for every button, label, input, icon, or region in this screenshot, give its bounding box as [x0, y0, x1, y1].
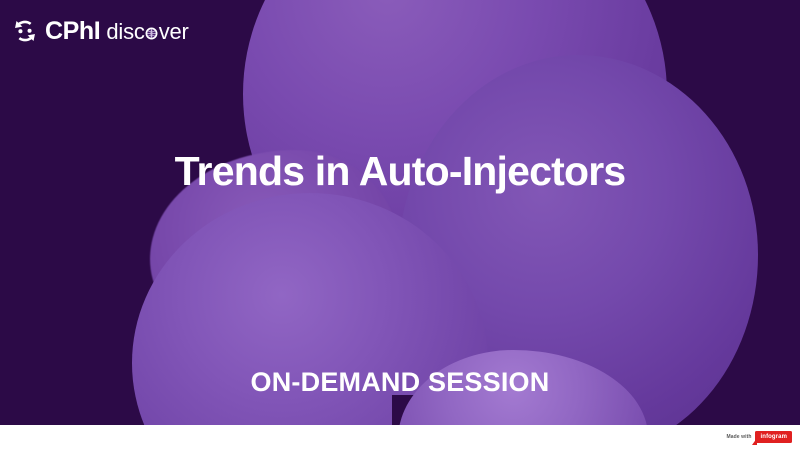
slide-root: CPhI disc ver [0, 0, 800, 450]
slide-title: Trends in Auto-Injectors [0, 149, 800, 194]
logo-secondary-text: disc ver [106, 21, 188, 43]
footer-bar: Made with infogram [0, 425, 800, 450]
infogram-tag-icon[interactable]: infogram [755, 431, 792, 443]
cphi-circular-arrows-icon [12, 18, 38, 44]
decorative-notch [392, 395, 462, 425]
logo-primary-text: CPhI [45, 19, 100, 44]
globe-pill-icon [145, 21, 159, 43]
infogram-watermark[interactable]: Made with infogram [726, 430, 792, 444]
slide-subtitle: ON-DEMAND SESSION [0, 368, 800, 398]
cphi-discover-logo[interactable]: CPhI disc ver [12, 16, 189, 46]
logo-wordmark: CPhI disc ver [45, 19, 189, 44]
logo-secondary-text-before: disc [106, 21, 144, 43]
slide-canvas: CPhI disc ver [0, 0, 800, 425]
logo-secondary-text-after: ver [159, 21, 189, 43]
made-with-label: Made with [726, 435, 751, 440]
